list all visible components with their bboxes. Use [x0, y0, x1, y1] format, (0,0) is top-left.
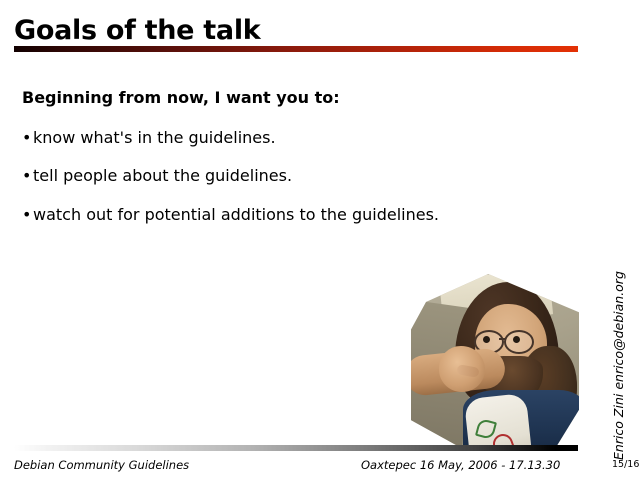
title-underline-rule [14, 46, 578, 52]
page-title: Goals of the talk [14, 17, 260, 45]
list-item: • know what's in the guidelines. [22, 129, 582, 147]
footer-rule [14, 445, 578, 451]
footer-location-date: Oaxtepec 16 May, 2006 - 17.13.30 [361, 458, 560, 472]
bullet-dot-icon: • [22, 167, 33, 185]
footer-talk-title: Debian Community Guidelines [14, 458, 189, 472]
presentation-slide: Goals of the talk Beginning from now, I … [0, 0, 640, 480]
list-item: • tell people about the guidelines. [22, 167, 582, 185]
bullet-dot-icon: • [22, 206, 33, 224]
list-item-label: know what's in the guidelines. [33, 129, 276, 147]
photo-eye-left [483, 336, 490, 343]
list-item-label: tell people about the guidelines. [33, 167, 292, 185]
list-item-label: watch out for potential additions to the… [33, 206, 439, 224]
footer-page-number: 15/16 [612, 459, 639, 470]
lead-statement: Beginning from now, I want you to: [22, 88, 340, 107]
photo-glasses-bridge [499, 338, 506, 340]
photo-glasses-right [504, 330, 534, 354]
author-credit-vertical: Enrico Zini enrico@debian.org [611, 260, 631, 460]
bullet-list: • know what's in the guidelines. • tell … [22, 129, 582, 244]
list-item: • watch out for potential additions to t… [22, 206, 582, 224]
speaker-photo-image [411, 274, 579, 448]
speaker-photo [411, 274, 579, 448]
photo-eye-right [513, 336, 520, 343]
bullet-dot-icon: • [22, 129, 33, 147]
